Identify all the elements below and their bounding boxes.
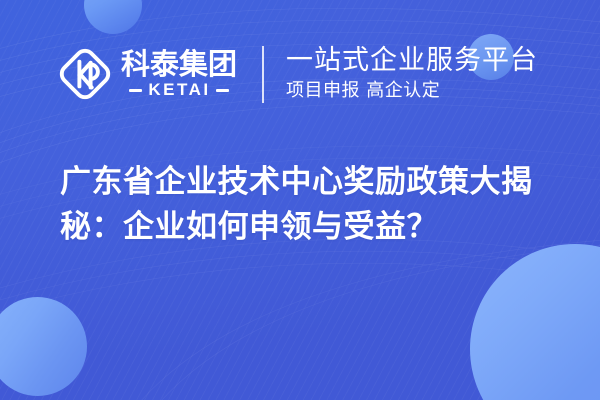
page-title-line-1: 广东省企业技术中心奖励政策大揭 (60, 160, 576, 205)
logo-latin-row: KETAI (121, 81, 237, 99)
slogan-main: 一站式企业服务平台 (286, 46, 538, 76)
slogan-block: 一站式企业服务平台 项目申报 高企认定 (286, 46, 538, 102)
logo-dash-right (216, 89, 229, 92)
sphere-bottom-left (0, 297, 87, 396)
banner-header: 科泰集团 KETAI 一站式企业服务平台 项目申报 高企认定 (0, 38, 600, 110)
logo-company-name-cn: 科泰集团 (121, 49, 237, 80)
logo-company-name-latin: KETAI (148, 81, 210, 99)
header-divider (262, 46, 264, 103)
sphere-bottom-right (470, 244, 600, 400)
promotional-banner: 科泰集团 KETAI 一站式企业服务平台 项目申报 高企认定 广东省企业技术中心… (0, 0, 600, 400)
logo-wordmark: 科泰集团 KETAI (121, 49, 237, 99)
slogan-sub: 项目申报 高企认定 (286, 80, 538, 102)
sphere-top-left (84, 0, 142, 34)
logo-dash-left (129, 89, 142, 92)
ketai-diamond-kp-monogram-icon (57, 46, 113, 102)
page-title-line-2: 秘：企业如何申领与受益？ (60, 205, 576, 250)
page-title: 广东省企业技术中心奖励政策大揭 秘：企业如何申领与受益？ (60, 160, 576, 250)
brand-logo[interactable]: 科泰集团 KETAI (57, 46, 237, 102)
